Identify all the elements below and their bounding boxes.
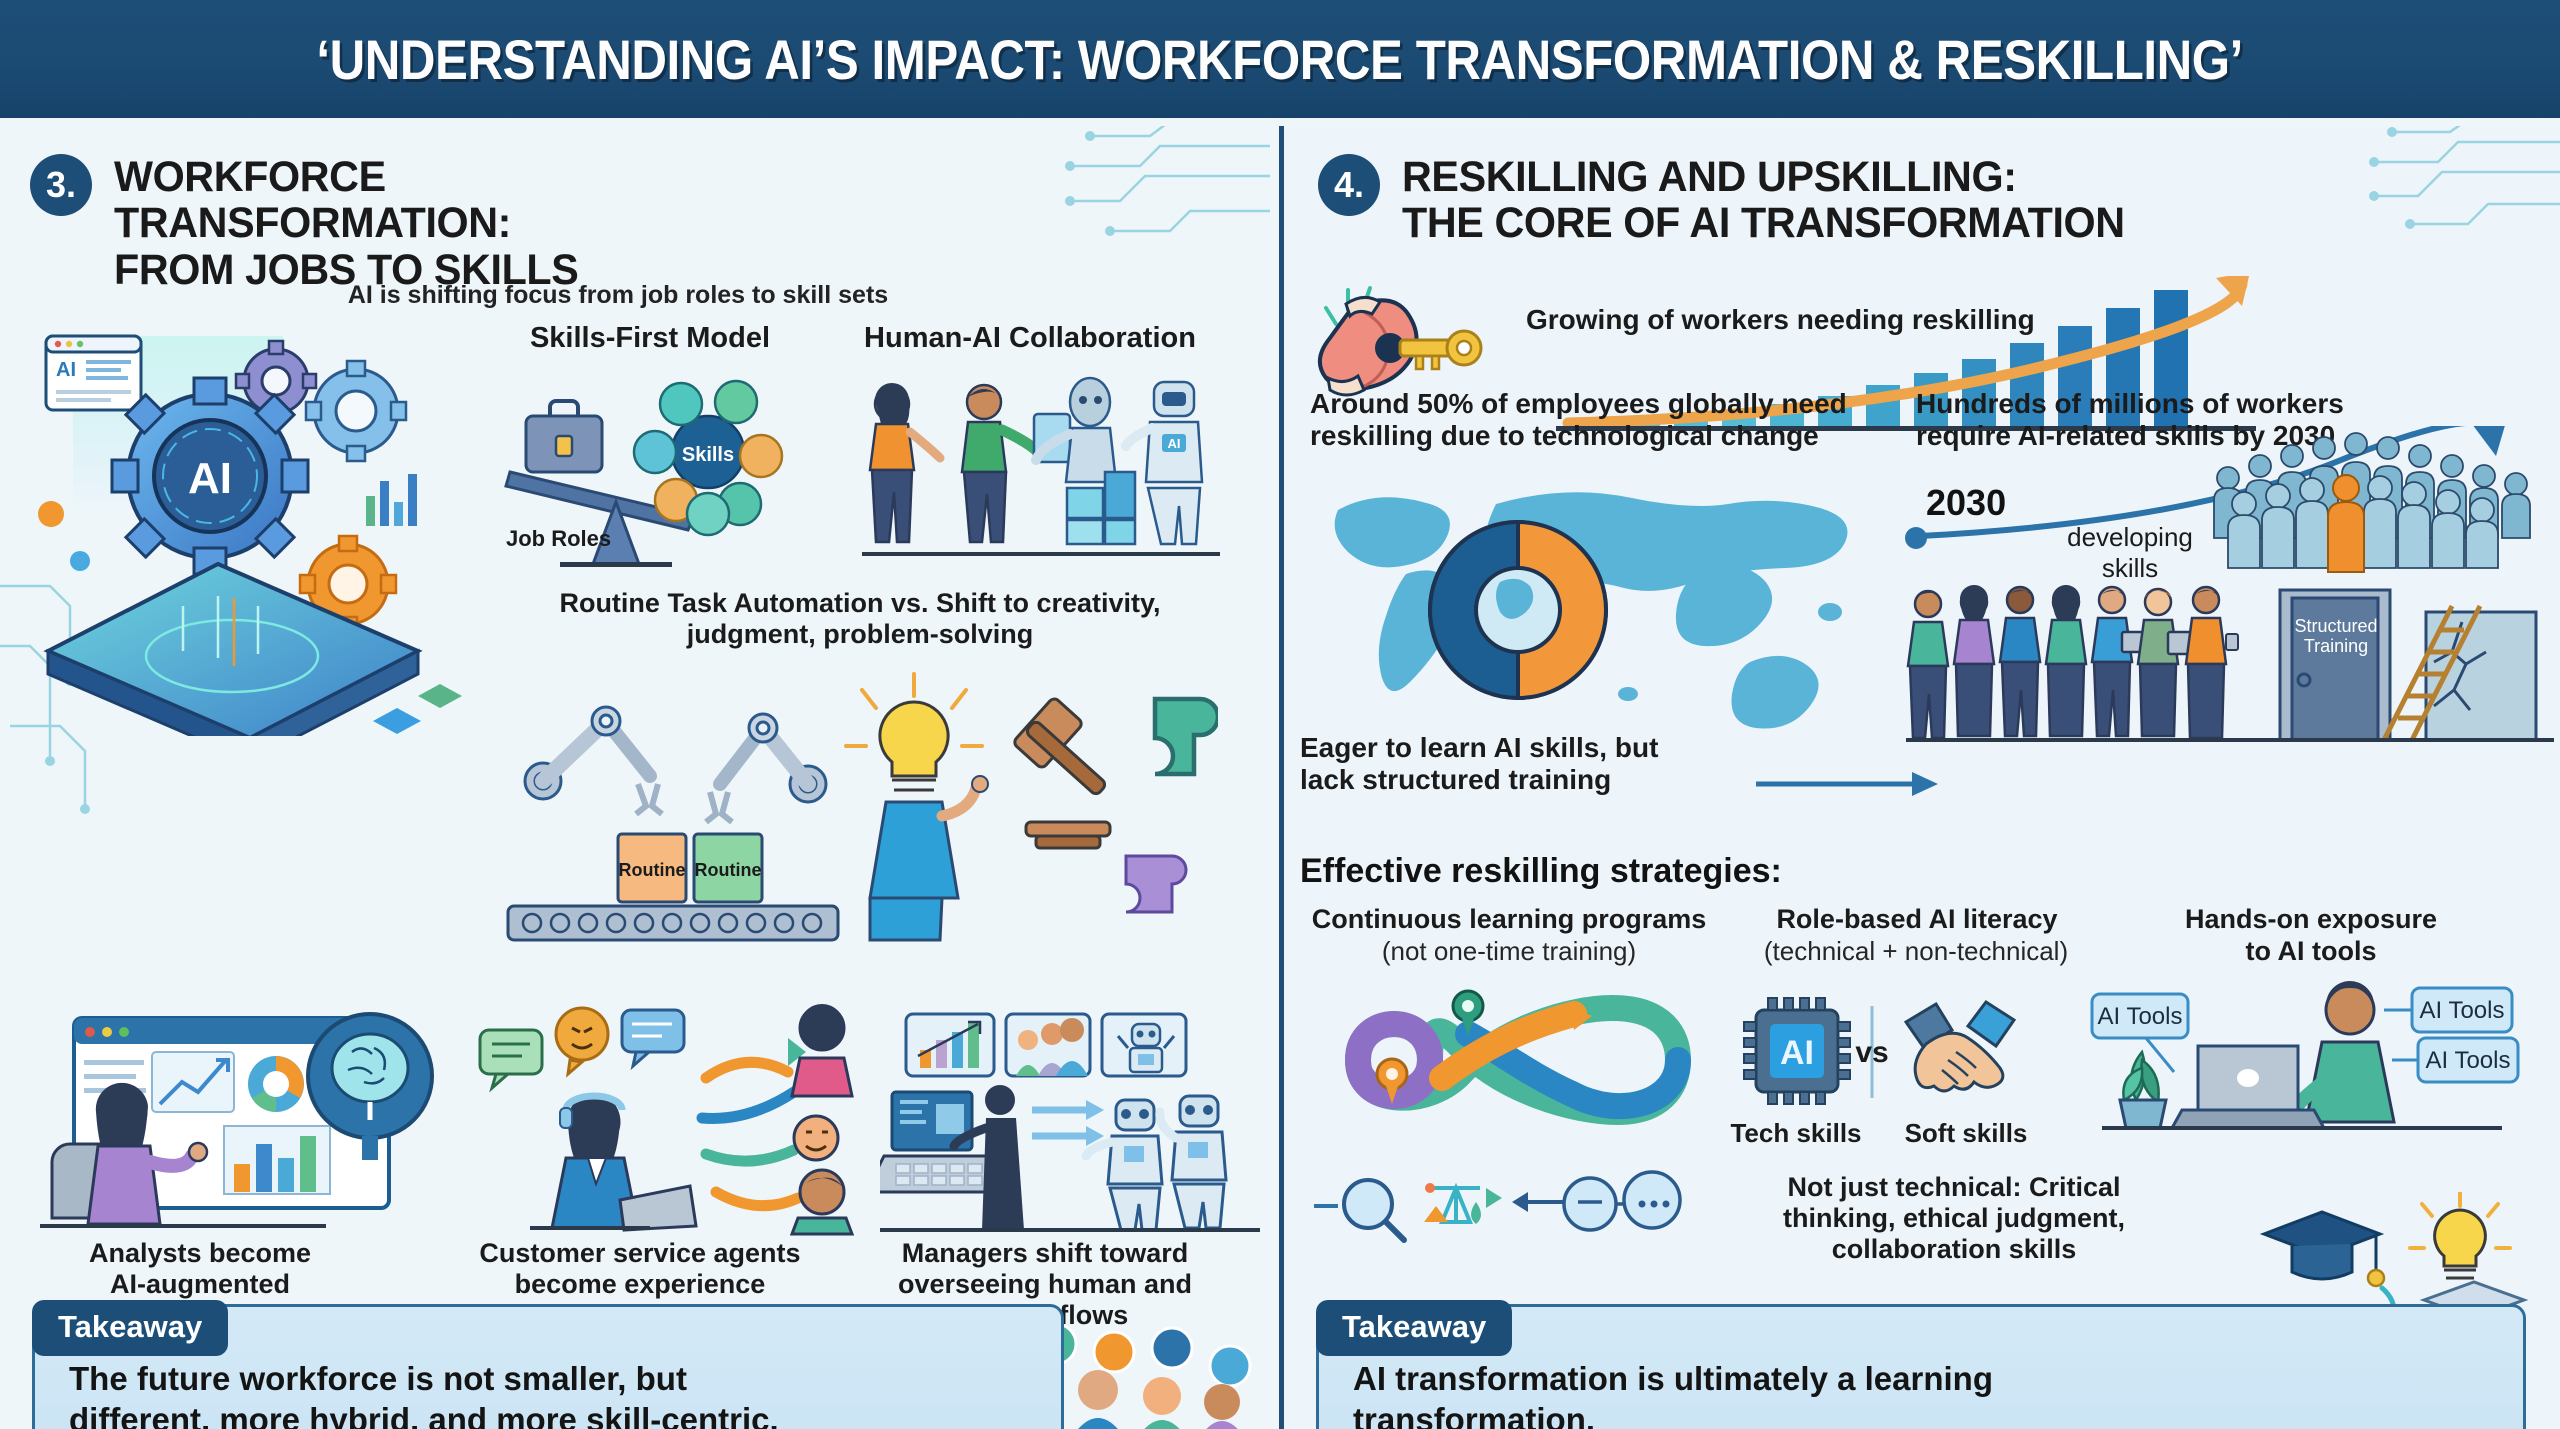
human-ai-collab-title: Human-AI Collaboration: [840, 322, 1220, 355]
page-title: ‘UNDERSTANDING AI’S IMPACT: WORKFORCE TR…: [317, 27, 2244, 92]
gear-blue-icon: [306, 361, 406, 461]
magnifier-icon: [1344, 1180, 1404, 1240]
stat-left-line2: reskilling due to technological change: [1310, 420, 1819, 451]
structured-training-door-icon: Structured Training: [2280, 590, 2390, 740]
chip-ai-label: AI: [1780, 1034, 1814, 1072]
strategy-3-title: Hands-on exposure: [2146, 904, 2476, 935]
ai-tool-tag-label-1: AI Tools: [2098, 1003, 2183, 1030]
left-takeaway-line2: different, more hybrid, and more skill-c…: [69, 1401, 779, 1429]
left-section-heading: 3. WORKFORCE TRANSFORMATION: FROM JOBS T…: [30, 154, 810, 293]
robot-arm-icon: [525, 707, 662, 814]
right-section-title: RESKILLING AND UPSKILLING: THE CORE OF A…: [1402, 154, 2125, 247]
arrow-head-icon: [1086, 1100, 1104, 1120]
conveyor-belt-icon: [508, 906, 838, 940]
graduation-cap-icon: [2264, 1212, 2384, 1286]
right-takeaway-line2: transformation.: [1353, 1401, 1595, 1429]
crowd-of-workers-icon: [2206, 426, 2556, 586]
left-takeaway: Takeaway The future workforce is not sma…: [32, 1304, 1064, 1429]
skills-first-model-title: Skills-First Model: [500, 322, 800, 355]
door-label-line2: Training: [2304, 636, 2368, 656]
world-map-donut-chart: [1310, 462, 1870, 762]
robot-icon: [1086, 1100, 1162, 1230]
svg-text:Skills: Skills: [682, 444, 734, 466]
soft-skills-note-line3: collaboration skills: [1832, 1234, 2077, 1264]
ai-tool-tag-label-3: AI Tools: [2426, 1047, 2511, 1074]
hands-on-ai-tools-illustration: AI Tools AI Tools AI Tools: [2082, 976, 2522, 1166]
human-ai-collaboration-illustration: AI: [862, 366, 1222, 576]
ai-browser-window-icon: AI: [46, 336, 141, 410]
panel-divider: [1279, 126, 1284, 1429]
arrow-head-icon: [1512, 1192, 1528, 1212]
eager-line1: Eager to learn AI skills, but: [1300, 732, 1658, 763]
soft-skills-note-line1: Not just technical: Critical: [1787, 1172, 2120, 1202]
tech-vs-soft-skills-illustration: AI Tech skills vs Soft skills: [1730, 986, 2050, 1166]
soft-skills-label: Soft skills: [1905, 1118, 2028, 1148]
left-section-number: 3.: [30, 154, 92, 216]
highlighted-worker-icon: [2328, 475, 2364, 572]
people-queue-icon: [1908, 585, 2238, 738]
handshake-icon: [1906, 1002, 2014, 1091]
strategy-1-title: Continuous learning programs: [1294, 904, 1724, 935]
stat-left-text: Around 50% of employees globally need re…: [1310, 388, 1900, 452]
strategies-title: Effective reskilling strategies:: [1300, 852, 1782, 891]
job-roles-label: Job Roles: [506, 526, 611, 551]
vs-label: vs: [1855, 1036, 1888, 1069]
right-section-heading: 4. RESKILLING AND UPSKILLING: THE CORE O…: [1318, 154, 2218, 247]
donut-chart: [1430, 522, 1606, 698]
chat-bubble-icon: [622, 1010, 684, 1066]
robot-icon: [1160, 1096, 1226, 1228]
ai-tool-tag: AI Tools: [2392, 1038, 2518, 1082]
tech-skills-label: Tech skills: [1730, 1118, 1861, 1148]
routine-box-label-1: Routine: [619, 860, 686, 880]
ai-tool-tag-label-2: AI Tools: [2420, 997, 2505, 1024]
donut-mini-icon: [248, 1056, 304, 1112]
critical-thinking-icons-row: [1314, 1158, 1714, 1248]
lightbulb-icon: [2410, 1192, 2510, 1278]
right-takeaway-text: AI transformation is ultimately a learni…: [1353, 1359, 2489, 1429]
emoji-bubble-icon: [556, 1008, 608, 1074]
right-panel: 4. RESKILLING AND UPSKILLING: THE CORE O…: [1286, 126, 2560, 1429]
door-label-line1: Structured: [2294, 616, 2377, 636]
right-takeaway-line1: AI transformation is ultimately a learni…: [1353, 1360, 1993, 1397]
cracked-wall-ladder-icon: [2384, 606, 2536, 740]
right-section-title-line2: THE CORE OF AI TRANSFORMATION: [1402, 199, 2125, 247]
orange-dot-icon: [38, 501, 64, 527]
routine-automation-title: Routine Task Automation vs. Shift to cre…: [500, 588, 1220, 650]
puzzle-piece-icon: [1155, 699, 1218, 774]
eager-text: Eager to learn AI skills, but lack struc…: [1300, 732, 1760, 796]
circuit-decoration-icon: [1050, 126, 1278, 256]
ai-core-gear-icon: AI: [112, 378, 308, 574]
left-takeaway-line1: The future workforce is not smaller, but: [69, 1360, 687, 1397]
idea-person-icon: [846, 674, 988, 940]
strategy-2-title: Role-based AI literacy: [1722, 904, 2112, 935]
speech-bubble-icon: [480, 1030, 542, 1088]
left-panel: 3. WORKFORCE TRANSFORMATION: FROM JOBS T…: [0, 126, 1278, 1429]
strategy-2-note: (technical + non-technical): [1706, 936, 2126, 967]
briefcase-icon: [526, 401, 602, 472]
customer-service-agent-illustration: [470, 986, 870, 1236]
collaboration-heads-icon: [1564, 1172, 1680, 1230]
soft-skills-note-line2: thinking, ethical judgment,: [1783, 1203, 2125, 1233]
routine-title-line2: judgment, problem-solving: [687, 619, 1034, 649]
ethics-balance-icon: [1424, 1183, 1502, 1224]
stat-right-line1: Hundreds of millions of workers: [1916, 388, 2344, 419]
routine-vs-creativity-illustration: Routine Routine: [498, 666, 1218, 956]
managers-ai-workflow-illustration: [880, 988, 1278, 1238]
eager-line2: lack structured training: [1300, 764, 1611, 795]
laptop-icon: [2172, 1046, 2324, 1128]
eager-arrow-icon: [1756, 766, 1946, 806]
skills-first-scale-illustration: Job Roles Skills: [498, 364, 808, 574]
routine-title-line1: Routine Task Automation vs. Shift to cre…: [559, 588, 1160, 618]
title-bar: ‘UNDERSTANDING AI’S IMPACT: WORKFORCE TR…: [0, 0, 2560, 118]
svg-text:AI: AI: [56, 359, 76, 381]
potted-plant-icon: [2120, 1052, 2166, 1128]
ai-tool-tag: AI Tools: [2384, 988, 2512, 1032]
left-takeaway-text: The future workforce is not smaller, but…: [69, 1359, 1027, 1429]
strategy-3-note: to AI tools: [2146, 936, 2476, 967]
stat-left-line1: Around 50% of employees globally need: [1310, 388, 1847, 419]
ai-chip-icon: AI: [1744, 998, 1850, 1104]
right-section-title-line1: RESKILLING AND UPSKILLING:: [1402, 153, 2017, 201]
structured-training-illustration: Structured Training: [1906, 576, 2556, 766]
developing-skills-line1: developing: [2067, 522, 2193, 552]
blue-dot-icon: [70, 551, 90, 571]
strategy-1-note: (not one-time training): [1294, 936, 1724, 967]
svg-text:AI: AI: [188, 454, 232, 503]
curve-start-dot: [1905, 527, 1927, 549]
svg-text:AI: AI: [1168, 436, 1181, 451]
infographic-root: ‘UNDERSTANDING AI’S IMPACT: WORKFORCE TR…: [0, 0, 2560, 1429]
ai-hologram-illustration: AI: [18, 306, 488, 736]
customer-avatar-icon: [794, 1116, 838, 1160]
developing-skills-label: developing skills: [2060, 522, 2200, 583]
left-section-title: WORKFORCE TRANSFORMATION: FROM JOBS TO S…: [114, 154, 782, 293]
right-takeaway: Takeaway AI transformation is ultimately…: [1316, 1304, 2526, 1429]
gavel-icon: [1012, 697, 1110, 848]
circuit-decoration-icon: [2356, 126, 2560, 244]
right-section-number: 4.: [1318, 154, 1380, 216]
mini-bar-chart-icon: [366, 474, 417, 526]
robot-ai-badge-icon: AI: [1126, 382, 1202, 544]
customer-avatar-icon: [792, 1170, 852, 1234]
support-agent-icon: [552, 1094, 696, 1230]
robot-arm-icon: [706, 714, 826, 822]
puzzle-piece-icon: [1126, 856, 1186, 912]
continuous-learning-infinity-icon: [1322, 972, 1722, 1152]
right-takeaway-tag: Takeaway: [1316, 1300, 1512, 1356]
routine-box-label-2: Routine: [695, 860, 762, 880]
left-takeaway-tag: Takeaway: [32, 1300, 228, 1356]
left-section-title-line1: WORKFORCE TRANSFORMATION:: [114, 153, 511, 247]
soft-skills-note: Not just technical: Critical thinking, e…: [1734, 1172, 2174, 1264]
